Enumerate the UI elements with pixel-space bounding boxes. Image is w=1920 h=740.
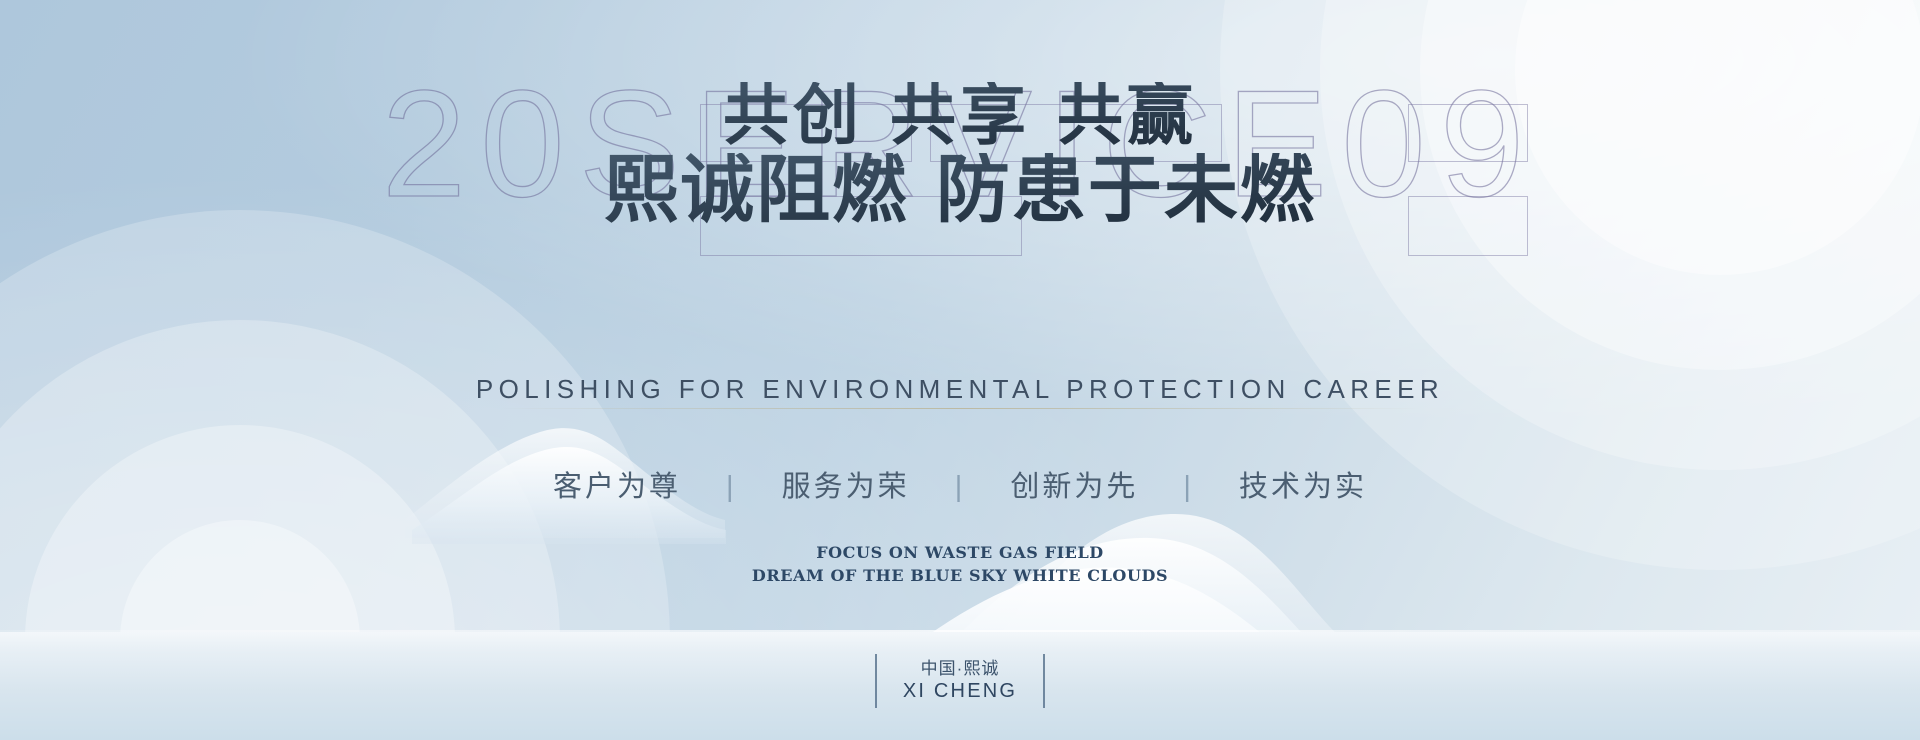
value-item-2: 服务为荣 bbox=[778, 471, 914, 503]
headline-block: 共创 共享 共赢 熙诚阻燃 防患于未燃 bbox=[0, 82, 1920, 229]
english-tagline: POLISHING FOR ENVIRONMENTAL PROTECTION C… bbox=[0, 374, 1920, 405]
serif-slogan: FOCUS ON WASTE GAS FIELD DREAM OF THE BL… bbox=[0, 542, 1920, 587]
horizon-line bbox=[0, 630, 1920, 632]
value-separator: | bbox=[1153, 471, 1224, 504]
brand-lockup: 中国·熙诚 XI CHENG bbox=[0, 654, 1920, 708]
brand-name-en: XI CHENG bbox=[903, 679, 1017, 704]
slogan-line-2: DREAM OF THE BLUE SKY WHITE CLOUDS bbox=[0, 565, 1920, 588]
value-item-3: 创新为先 bbox=[1006, 471, 1142, 503]
value-separator: | bbox=[925, 471, 996, 504]
value-separator: | bbox=[696, 471, 767, 504]
slogan-line-1: FOCUS ON WASTE GAS FIELD bbox=[0, 542, 1920, 565]
value-item-4: 技术为实 bbox=[1235, 471, 1371, 503]
brand-divider-right bbox=[1043, 654, 1045, 708]
headline-line-1: 共创 共享 共赢 bbox=[0, 82, 1920, 149]
brand-name-cn: 中国·熙诚 bbox=[921, 658, 1000, 679]
value-item-1: 客户为尊 bbox=[549, 471, 685, 503]
tagline-underline bbox=[500, 408, 1420, 409]
value-propositions: 客户为尊 | 服务为荣 | 创新为先 | 技术为实 bbox=[0, 463, 1920, 505]
promo-banner: 20SERVICE09 共创 共享 共赢 熙诚阻燃 防患于未燃 bbox=[0, 0, 1920, 740]
headline-line-2: 熙诚阻燃 防患于未燃 bbox=[0, 153, 1920, 228]
brand-text: 中国·熙诚 XI CHENG bbox=[903, 658, 1017, 704]
brand-divider-left bbox=[875, 654, 877, 708]
